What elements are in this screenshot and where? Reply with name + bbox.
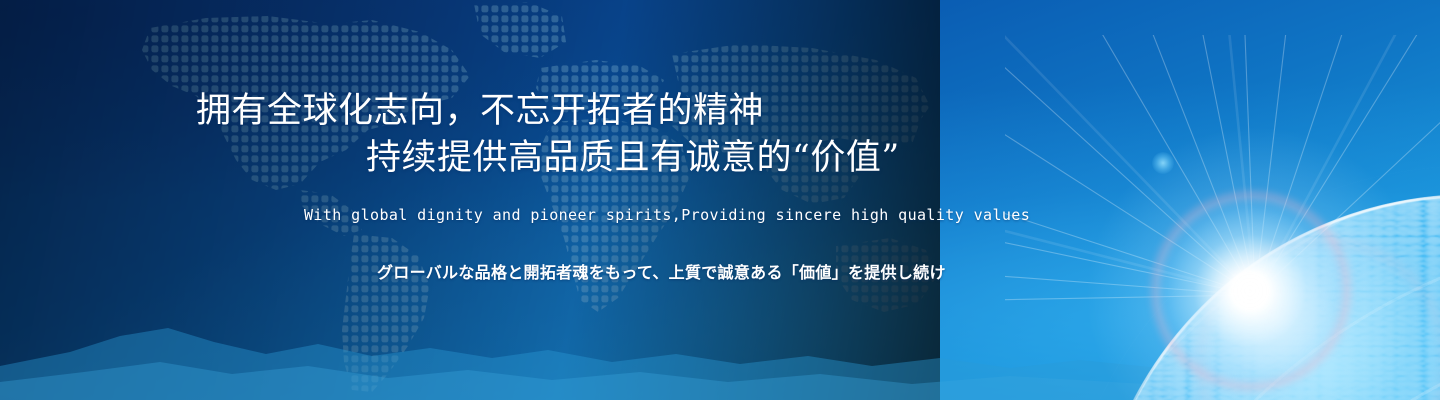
hero-banner: 拥有全球化志向，不忘开拓者的精神 持续提供高品质且有诚意的“价值” With g… <box>0 0 1440 400</box>
lens-flare-dot <box>1152 152 1174 174</box>
banner-subtitle-english: With global dignity and pioneer spirits,… <box>304 206 1030 224</box>
banner-headline: 拥有全球化志向，不忘开拓者的精神 持续提供高品质且有诚意的“价值” <box>196 88 900 182</box>
headline-line-2: 持续提供高品质且有诚意的“价值” <box>196 135 900 182</box>
banner-subtitle-japanese: グローバルな品格と開拓者魂をもって、上質で誠意ある「価値」を提供し続け <box>377 259 946 283</box>
sun-flare-core <box>1155 196 1345 386</box>
mountain-silhouette <box>0 270 1180 400</box>
headline-line-1: 拥有全球化志向，不忘开拓者的精神 <box>196 91 764 131</box>
